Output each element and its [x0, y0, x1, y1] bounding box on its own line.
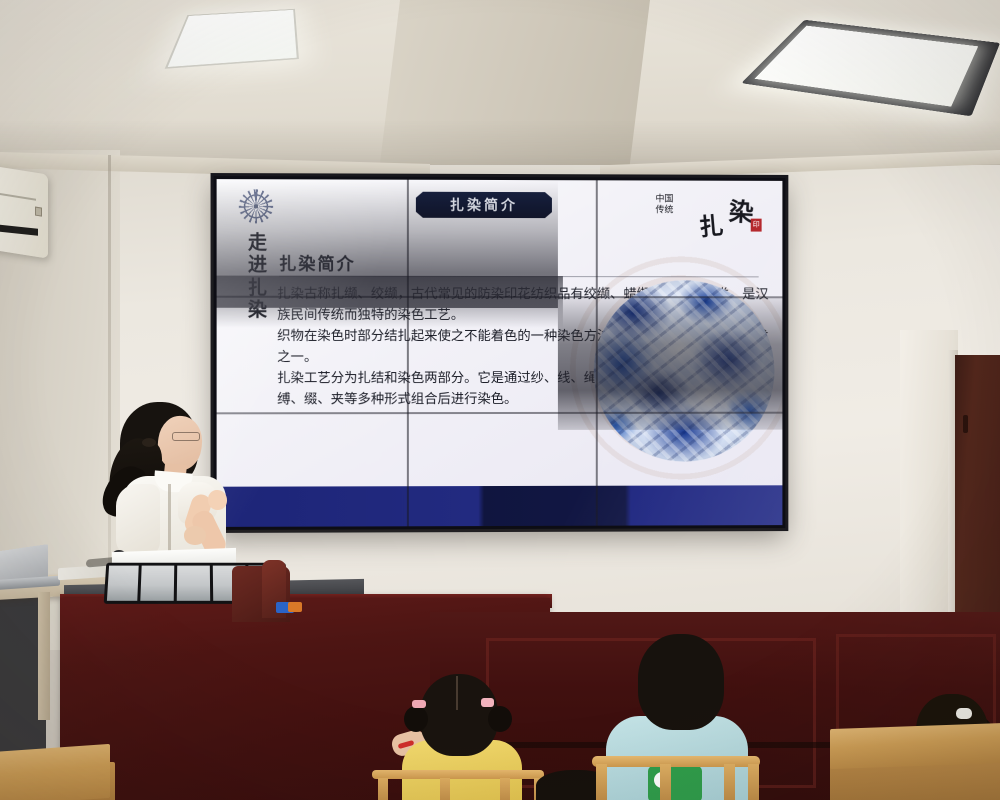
rack-divider-3: [210, 563, 213, 604]
mandala-circle-icon: [239, 189, 273, 223]
slide-sub-heading: 扎染简介: [279, 250, 355, 275]
pink-hair-clip-left-icon: [412, 700, 426, 708]
front-desk-left: [0, 744, 110, 800]
presenter-left-sleeve: [116, 484, 160, 556]
brand-line-1: 中国: [655, 194, 673, 204]
pink-hair-clip-right-icon: [481, 698, 494, 707]
videowall-seam-vertical-1: [407, 180, 409, 527]
chair-slat-1: [378, 778, 388, 800]
girl-hair: [420, 674, 498, 756]
slide-title-plaque: 扎染简介: [416, 192, 552, 218]
door-handle-icon[interactable]: [963, 415, 968, 433]
air-conditioner-icon: [0, 165, 48, 258]
presenter-hand-lower: [184, 526, 206, 545]
classroom-photo-scene: 走 进 扎 染 扎染简介 中国 传统 扎 染 印 扎染简介 扎染古称扎缬、绞缬，…: [0, 0, 1000, 800]
front-desk-right: [830, 723, 1000, 769]
brand-small-text: 中国 传统: [655, 194, 673, 216]
chair-slat-b1: [596, 764, 607, 800]
vertical-char-4: 染: [243, 299, 273, 322]
ac-vent: [0, 224, 38, 236]
slide-vertical-title: 走 进 扎 染: [243, 231, 273, 321]
boy-hair: [638, 634, 724, 730]
chair-slat-b2: [660, 764, 671, 800]
ac-display: [35, 207, 42, 217]
tie-dye-photo: [594, 280, 775, 462]
chair-rail-girl[interactable]: [372, 770, 544, 779]
vertical-char-1: 走: [243, 231, 273, 254]
chair-slat-3: [500, 778, 510, 800]
girl-pigtail-left: [404, 706, 428, 732]
brand-logo: 中国 传统 扎 染 印: [655, 192, 766, 234]
brand-char-zha: 扎: [698, 206, 725, 243]
side-table-leg: [38, 592, 50, 720]
ac-seam: [0, 192, 36, 201]
red-seal-icon: 印: [751, 219, 762, 232]
chair-slat-2: [440, 778, 450, 800]
chair-slat-b4: [748, 764, 759, 800]
presentation-slide: 走 进 扎 染 扎染简介 中国 传统 扎 染 印 扎染简介 扎染古称扎缬、绞缬，…: [217, 179, 783, 527]
orange-object: [288, 602, 302, 612]
vertical-char-2: 进: [243, 254, 273, 277]
videowall-seam-vertical-2: [596, 180, 598, 525]
brand-line-2: 传统: [655, 205, 673, 215]
chair-slat-b3: [724, 764, 735, 800]
video-wall-display[interactable]: 走 进 扎 染 扎染简介 中国 传统 扎 染 印 扎染简介 扎染古称扎缬、绞缬，…: [214, 176, 786, 530]
slide-bottom-bar: [217, 485, 783, 527]
presenter-hand-raised: [208, 490, 227, 510]
hair-tie-icon: [142, 438, 156, 447]
glasses-icon: [172, 432, 200, 441]
white-hair-tie-icon: [956, 708, 972, 719]
girl-pigtail-right: [488, 706, 512, 732]
rack-divider-2: [174, 563, 178, 604]
girl-hair-part: [456, 676, 458, 710]
door-icon[interactable]: [955, 355, 1000, 655]
rack-divider-1: [137, 563, 142, 604]
